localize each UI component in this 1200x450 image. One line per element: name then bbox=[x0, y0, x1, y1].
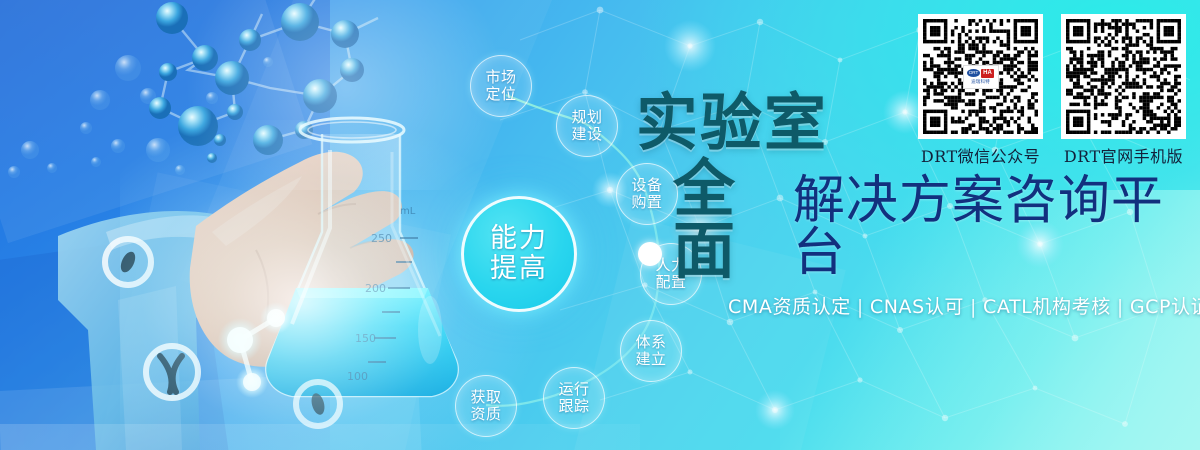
qr-code-image-mobile-website[interactable] bbox=[1061, 14, 1186, 139]
bubble-label-line1: 能力 bbox=[490, 224, 548, 254]
svg-text:mL: mL bbox=[400, 206, 416, 217]
bullet-dot-icon bbox=[638, 242, 662, 266]
bubble-label-line2: 建设 bbox=[571, 126, 602, 143]
bubble-label-line1: 运行 bbox=[558, 381, 589, 398]
process-bubble-capability-improvement[interactable]: 能力提高 bbox=[461, 196, 577, 312]
process-bubble-qualification-acquisition[interactable]: 获取资质 bbox=[455, 375, 517, 437]
qr-code-group: DRTHA迪瑞科特DRT微信公众号 DRT官网手机版 bbox=[918, 14, 1186, 167]
process-bubble-system-establishment[interactable]: 体系建立 bbox=[620, 320, 682, 382]
bubble-label-line1: 获取 bbox=[470, 389, 501, 406]
cert-separator: | bbox=[1117, 296, 1124, 318]
laboratory-solutions-banner: 250 200 150 100 mL bbox=[0, 0, 1200, 450]
bubble-label-line2: 建立 bbox=[635, 351, 666, 368]
headline-line-2: 全面 解决方案咨询平台 bbox=[636, 158, 1196, 282]
bubble-label-line2: 跟踪 bbox=[558, 398, 589, 415]
bubble-label-line2: 定位 bbox=[485, 86, 516, 103]
bubble-label-line1: 体系 bbox=[635, 334, 666, 351]
headline-emphasis: 全面 bbox=[673, 158, 793, 282]
logo-red-text: HA bbox=[981, 69, 994, 78]
svg-text:150: 150 bbox=[355, 332, 376, 345]
qr-label-mobile-website: DRT官网手机版 bbox=[1064, 143, 1183, 167]
bubble-label-line1: 规划 bbox=[571, 109, 602, 126]
qr-item-mobile-website: DRT官网手机版 bbox=[1061, 14, 1186, 167]
logo-oval-text: DRT bbox=[967, 69, 980, 77]
qr-code-image-wechat-official-account[interactable]: DRTHA迪瑞科特 bbox=[918, 14, 1043, 139]
svg-text:100: 100 bbox=[347, 370, 368, 383]
qr-label-wechat-official-account: DRT微信公众号 bbox=[921, 143, 1040, 167]
svg-text:250: 250 bbox=[371, 232, 392, 245]
bubble-label-line2: 资质 bbox=[470, 406, 501, 423]
qr-item-wechat-official-account: DRTHA迪瑞科特DRT微信公众号 bbox=[918, 14, 1043, 167]
process-bubble-market-positioning[interactable]: 市场定位 bbox=[470, 55, 532, 117]
cert-item: CMA资质认定 bbox=[728, 296, 851, 318]
cert-item: CNAS认可 bbox=[870, 296, 964, 318]
process-bubble-planning-construction[interactable]: 规划建设 bbox=[556, 95, 618, 157]
cert-separator: | bbox=[970, 296, 977, 318]
bubble-label-line1: 市场 bbox=[485, 69, 516, 86]
cert-item: GCP认证 bbox=[1130, 296, 1200, 318]
top-glow bbox=[180, 0, 510, 190]
bubble-label-line2: 提高 bbox=[490, 254, 548, 284]
cert-separator: | bbox=[857, 296, 864, 318]
logo-chinese-text: 迪瑞科特 bbox=[971, 79, 990, 85]
cert-item: CATL机构考核 bbox=[983, 296, 1111, 318]
process-bubble-operation-tracking[interactable]: 运行跟踪 bbox=[543, 367, 605, 429]
bottom-light-strip bbox=[0, 424, 640, 450]
headline-subtitle: 解决方案咨询平台 bbox=[793, 175, 1196, 282]
certification-list: CMA资质认定|CNAS认可|CATL机构考核|GCP认证|6S管理 bbox=[728, 292, 1200, 319]
svg-text:200: 200 bbox=[365, 282, 386, 295]
qr-center-logo-icon: DRTHA迪瑞科特 bbox=[963, 65, 999, 89]
